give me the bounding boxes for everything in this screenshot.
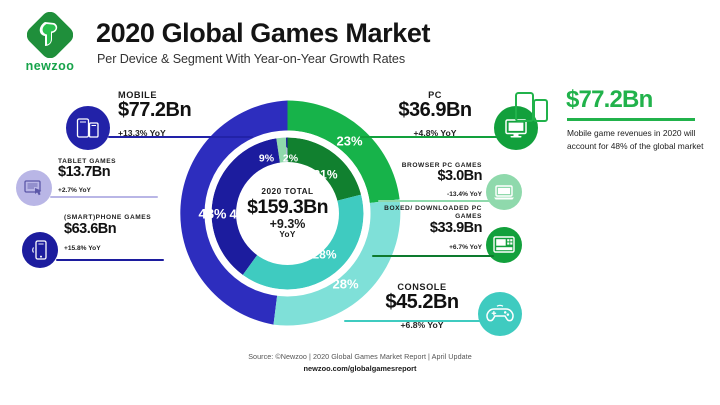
callout-tablet-yoy: +2.7% YoY xyxy=(58,187,116,194)
outer-label-console: 28% xyxy=(332,277,358,292)
callout-browser-pc-value: $3.0Bn xyxy=(390,169,482,185)
callout-mobile-value: $77.2Bn xyxy=(118,100,246,121)
inner-label-tablet: 9% xyxy=(259,153,275,165)
brand-wordmark: newzoo xyxy=(14,59,86,73)
outer-label-pc: 23% xyxy=(336,134,362,149)
page-title: 2020 Global Games Market xyxy=(96,18,430,49)
callout-smartphone-rule xyxy=(56,259,164,261)
center-total-yoy-suffix: YoY xyxy=(279,231,295,240)
highlight-rule xyxy=(567,118,695,121)
callout-tablet-value: $13.7Bn xyxy=(58,165,116,181)
mobile-devices-icon xyxy=(66,106,110,150)
callout-boxed-pc-yoy: +6.7% YoY xyxy=(384,244,482,251)
tablet-icon xyxy=(16,170,52,206)
footer: Source: ©Newzoo | 2020 Global Games Mark… xyxy=(0,352,720,373)
callout-browser-pc-yoy: -13.4% YoY xyxy=(390,191,482,198)
callout-boxed-pc-value: $33.9Bn xyxy=(384,221,482,237)
highlight-description: Mobile game revenues in 2020 will accoun… xyxy=(567,127,717,153)
newzoo-diamond-logo-icon xyxy=(27,12,73,58)
retro-computer-icon xyxy=(486,227,522,263)
smartphone-icon xyxy=(22,232,58,268)
callout-smartphone-yoy: +15.8% YoY xyxy=(64,245,151,252)
laptop-icon xyxy=(486,174,522,210)
gamepad-icon xyxy=(478,292,522,336)
center-total-value: $159.3Bn xyxy=(247,197,328,217)
callout-boxed-pc-name: BOXED/ DOWNLOADED PC GAMES xyxy=(384,205,482,221)
callout-pc-value: $36.9Bn xyxy=(382,100,488,121)
outer-label-mobile: 48% xyxy=(198,206,227,222)
callout-browser-pc-rule xyxy=(378,200,494,202)
header: newzoo 2020 Global Games Market Per Devi… xyxy=(0,0,720,78)
center-total-label: 2020 TOTAL xyxy=(261,187,313,196)
source-line: Source: ©Newzoo | 2020 Global Games Mark… xyxy=(0,352,720,361)
callout-boxed-pc-rule xyxy=(372,255,494,257)
callout-smartphone-value: $63.6Bn xyxy=(64,222,151,238)
source-url[interactable]: newzoo.com/globalgamesreport xyxy=(0,364,720,373)
mobile-devices-icon xyxy=(512,90,554,131)
callout-tablet-rule xyxy=(50,196,158,198)
highlight-value: $77.2Bn xyxy=(566,86,652,114)
callout-console-value: $45.2Bn xyxy=(372,292,472,313)
brand-logo: newzoo xyxy=(14,12,86,73)
page-subtitle: Per Device & Segment With Year-on-Year G… xyxy=(97,52,405,66)
chart-center-total: 2020 TOTAL $159.3Bn +9.3% YoY xyxy=(236,162,339,265)
